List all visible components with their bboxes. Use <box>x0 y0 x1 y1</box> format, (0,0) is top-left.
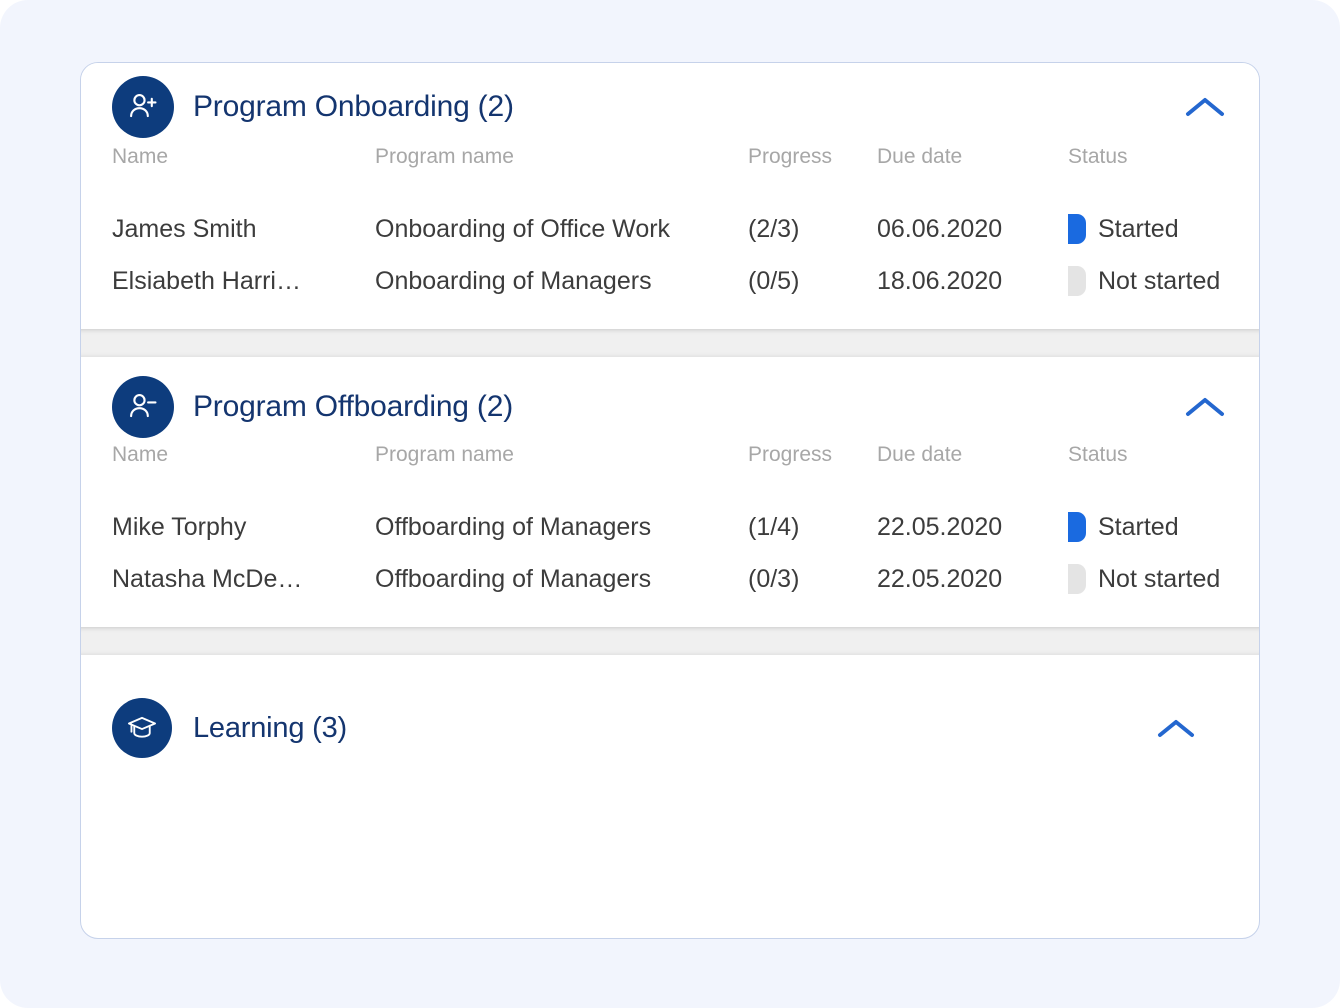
section-title: Learning (3) <box>193 712 347 745</box>
cell-program-name: Onboarding of Office Work <box>375 215 670 244</box>
section-learning: Learning (3) <box>81 655 1259 759</box>
cell-progress: (0/3) <box>748 565 799 594</box>
summary-card: Program Onboarding (2) Name Program name… <box>80 62 1260 939</box>
column-header-due-date: Due date <box>877 145 962 169</box>
cell-program-name: Offboarding of Managers <box>375 565 651 594</box>
column-header-name: Name <box>112 443 168 467</box>
user-minus-icon <box>112 376 174 438</box>
table-program-offboarding: Name Program name Progress Due date Stat… <box>81 435 1259 627</box>
chevron-up-icon[interactable] <box>1182 92 1228 122</box>
table-row[interactable]: Mike Torphy Offboarding of Managers (1/4… <box>81 501 1259 553</box>
spacer <box>81 307 1259 329</box>
table-body: Mike Torphy Offboarding of Managers (1/4… <box>81 501 1259 605</box>
spacer <box>81 605 1259 627</box>
cell-name: Elsiabeth Harri… <box>112 267 301 296</box>
cell-due-date: 18.06.2020 <box>877 267 1002 296</box>
user-plus-icon <box>112 76 174 138</box>
section-program-offboarding: Program Offboarding (2) Name Program nam… <box>81 357 1259 627</box>
table-header-row: Name Program name Progress Due date Stat… <box>81 435 1259 475</box>
table-row[interactable]: Natasha McDe… Offboarding of Managers (0… <box>81 553 1259 605</box>
status-indicator-icon <box>1068 214 1086 244</box>
status-indicator-icon <box>1068 512 1086 542</box>
cell-program-name: Offboarding of Managers <box>375 513 651 542</box>
section-header-learning[interactable]: Learning (3) <box>81 655 1259 759</box>
column-header-name: Name <box>112 145 168 169</box>
spacer <box>81 475 1259 501</box>
table-header: Name Program name Progress Due date Stat… <box>81 435 1259 475</box>
status-label: Started <box>1098 513 1179 542</box>
status-badge: Started <box>1068 214 1179 244</box>
cell-due-date: 22.05.2020 <box>877 565 1002 594</box>
section-program-onboarding: Program Onboarding (2) Name Program name… <box>81 63 1259 329</box>
status-label: Started <box>1098 215 1179 244</box>
graduation-cap-icon <box>112 698 172 758</box>
status-indicator-icon <box>1068 564 1086 594</box>
column-header-status: Status <box>1068 443 1128 467</box>
section-divider <box>81 329 1259 357</box>
table-body: James Smith Onboarding of Office Work (2… <box>81 203 1259 307</box>
cell-name: James Smith <box>112 215 256 244</box>
section-header-program-offboarding[interactable]: Program Offboarding (2) <box>81 357 1259 435</box>
chevron-up-icon[interactable] <box>1153 713 1199 743</box>
status-badge: Not started <box>1068 266 1220 296</box>
table-header-row: Name Program name Progress Due date Stat… <box>81 137 1259 177</box>
column-header-status: Status <box>1068 145 1128 169</box>
table-row[interactable]: James Smith Onboarding of Office Work (2… <box>81 203 1259 255</box>
column-header-due-date: Due date <box>877 443 962 467</box>
chevron-up-icon[interactable] <box>1182 392 1228 422</box>
column-header-progress: Progress <box>748 145 832 169</box>
status-label: Not started <box>1098 267 1220 296</box>
column-header-program-name: Program name <box>375 443 514 467</box>
section-divider <box>81 627 1259 655</box>
cell-due-date: 22.05.2020 <box>877 513 1002 542</box>
table-program-onboarding: Name Program name Progress Due date Stat… <box>81 137 1259 329</box>
page-background: Program Onboarding (2) Name Program name… <box>0 0 1340 1008</box>
cell-name: Mike Torphy <box>112 513 246 542</box>
cell-name: Natasha McDe… <box>112 565 302 594</box>
cell-program-name: Onboarding of Managers <box>375 267 652 296</box>
status-badge: Not started <box>1068 564 1220 594</box>
cell-progress: (1/4) <box>748 513 799 542</box>
table-header: Name Program name Progress Due date Stat… <box>81 137 1259 177</box>
status-indicator-icon <box>1068 266 1086 296</box>
status-badge: Started <box>1068 512 1179 542</box>
column-header-progress: Progress <box>748 443 832 467</box>
cell-progress: (0/5) <box>748 267 799 296</box>
status-label: Not started <box>1098 565 1220 594</box>
section-title: Program Offboarding (2) <box>193 390 513 424</box>
cell-progress: (2/3) <box>748 215 799 244</box>
cell-due-date: 06.06.2020 <box>877 215 1002 244</box>
section-header-program-onboarding[interactable]: Program Onboarding (2) <box>81 63 1259 137</box>
spacer <box>81 177 1259 203</box>
table-row[interactable]: Elsiabeth Harri… Onboarding of Managers … <box>81 255 1259 307</box>
column-header-program-name: Program name <box>375 145 514 169</box>
section-title: Program Onboarding (2) <box>193 90 514 124</box>
